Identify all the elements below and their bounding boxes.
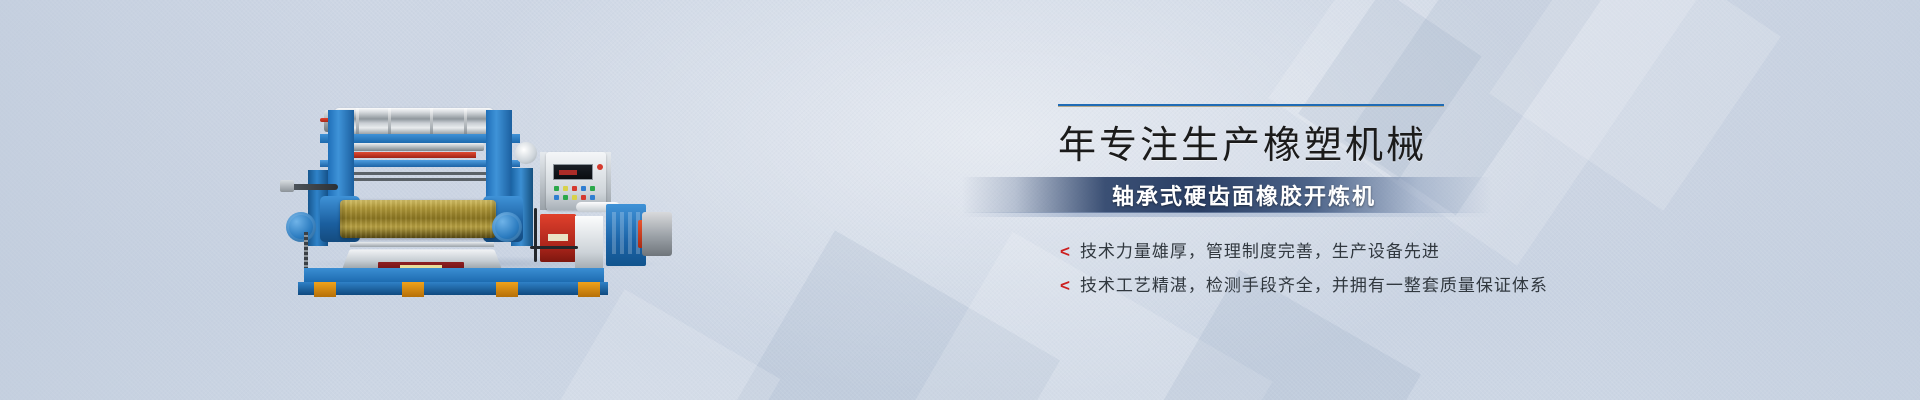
cable-reel [515,142,537,164]
cable [530,246,578,249]
base-foot [314,282,336,297]
base-foot [578,282,600,297]
chevron-left-icon: < [1060,277,1070,294]
promo-banner: 年专注生产橡塑机械 轴承式硬齿面橡胶开炼机 < 技术力量雄厚，管理制度完善，生产… [0,0,1920,400]
tie-rod [334,178,504,181]
base-foot [402,282,424,297]
base-foot [496,282,518,297]
control-lever-head [280,180,294,192]
junction-box-label [548,234,568,241]
product-image [290,96,670,264]
junction-box [540,214,576,262]
banner-copy: 年专注生产橡塑机械 轴承式硬齿面橡胶开炼机 < 技术力量雄厚，管理制度完善，生产… [1058,104,1838,311]
tie-rod [330,172,510,175]
tray-bar [350,242,494,247]
cable [534,208,537,262]
gold-roller [340,200,496,238]
headline-rule [1058,104,1444,107]
banner-subtitle: 轴承式硬齿面橡胶开炼机 [1112,179,1376,211]
mid-bar-red [348,152,476,158]
mid-bar [342,143,484,151]
drive-motor [642,212,672,256]
steel-roll [334,108,494,134]
chevron-left-icon: < [1060,243,1070,260]
feature-list: < 技术力量雄厚，管理制度完善，生产设备先进 < 技术工艺精湛，检测手段齐全，并… [1060,243,1838,294]
banner-headline: 年专注生产橡塑机械 [1058,123,1838,167]
feature-item: < 技术力量雄厚，管理制度完善，生产设备先进 [1060,243,1838,260]
subtitle-bar: 轴承式硬齿面橡胶开炼机 [962,177,1492,213]
feature-item-label: 技术工艺精湛，检测手段齐全，并拥有一整套质量保证体系 [1080,277,1548,294]
feature-item: < 技术工艺精湛，检测手段齐全，并拥有一整套质量保证体系 [1060,277,1838,294]
feature-item-label: 技术力量雄厚，管理制度完善，生产设备先进 [1080,243,1440,260]
machine-base-front [298,282,608,295]
cabinet-display [553,164,593,180]
bearing-left [286,212,316,242]
bearing-right [492,212,522,242]
guard-panel [575,216,603,268]
